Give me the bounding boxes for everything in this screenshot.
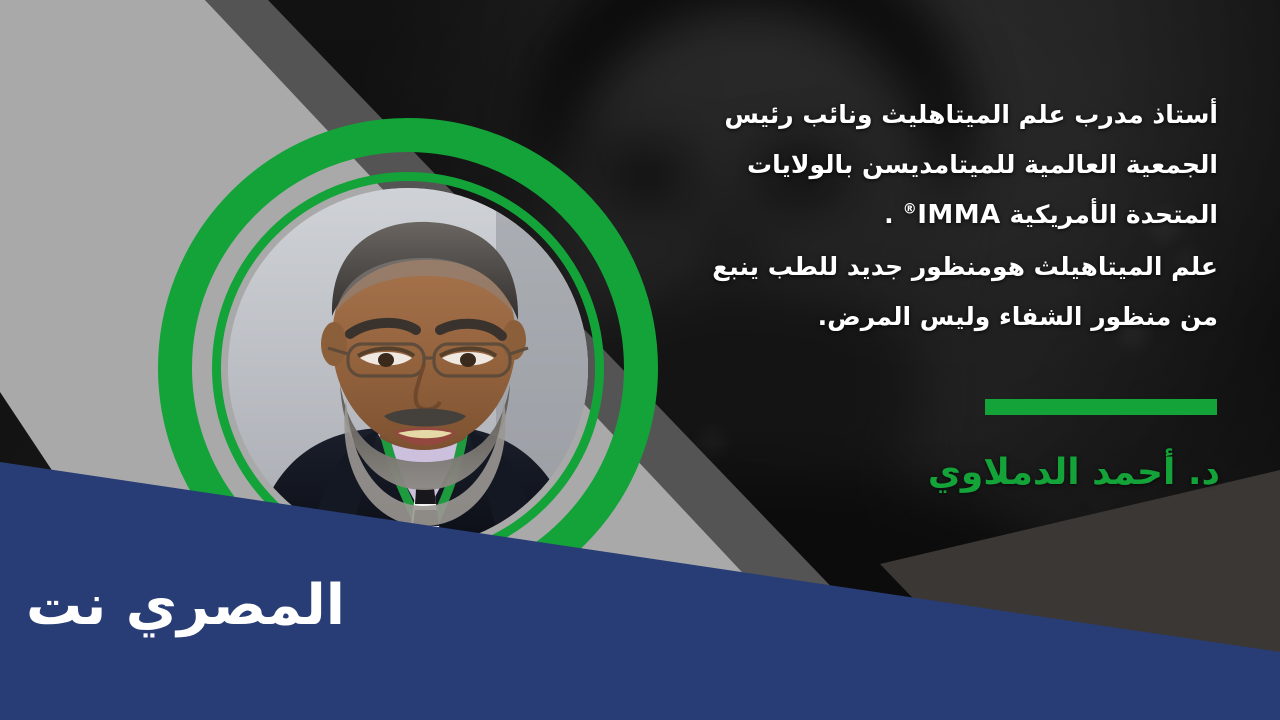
bio-line-3-text: المتحدة الأمريكية — [1009, 200, 1218, 229]
bio-text-block: أستاذ مدرب علم الميتاهليث ونائب رئيس الج… — [658, 96, 1218, 336]
speaker-name: د. أحمد الدملاوي — [928, 452, 1220, 493]
bio-period: . — [884, 200, 894, 229]
statement-line-1: علم الميتاهيلث هومنظور جديد للطب ينبع — [658, 248, 1218, 286]
bio-line-3: المتحدة الأمريكية IMMA® . — [658, 196, 1218, 236]
bokeh-highlight — [700, 430, 724, 454]
green-accent-bar — [985, 399, 1217, 415]
watermark-brand-label: المصري نت — [26, 578, 345, 634]
speaker-portrait — [228, 188, 588, 548]
statement-line-2: من منظور الشفاء وليس المرض. — [658, 298, 1218, 336]
poster-canvas: أستاذ مدرب علم الميتاهليث ونائب رئيس الج… — [0, 0, 1280, 720]
bio-line-1: أستاذ مدرب علم الميتاهليث ونائب رئيس — [658, 96, 1218, 134]
registered-trademark-icon: ® — [903, 201, 918, 217]
speaker-portrait-illustration — [228, 188, 588, 548]
bio-line-2: الجمعية العالمية للميتامديسن بالولايات — [658, 146, 1218, 184]
imma-acronym: IMMA® — [903, 200, 1001, 230]
